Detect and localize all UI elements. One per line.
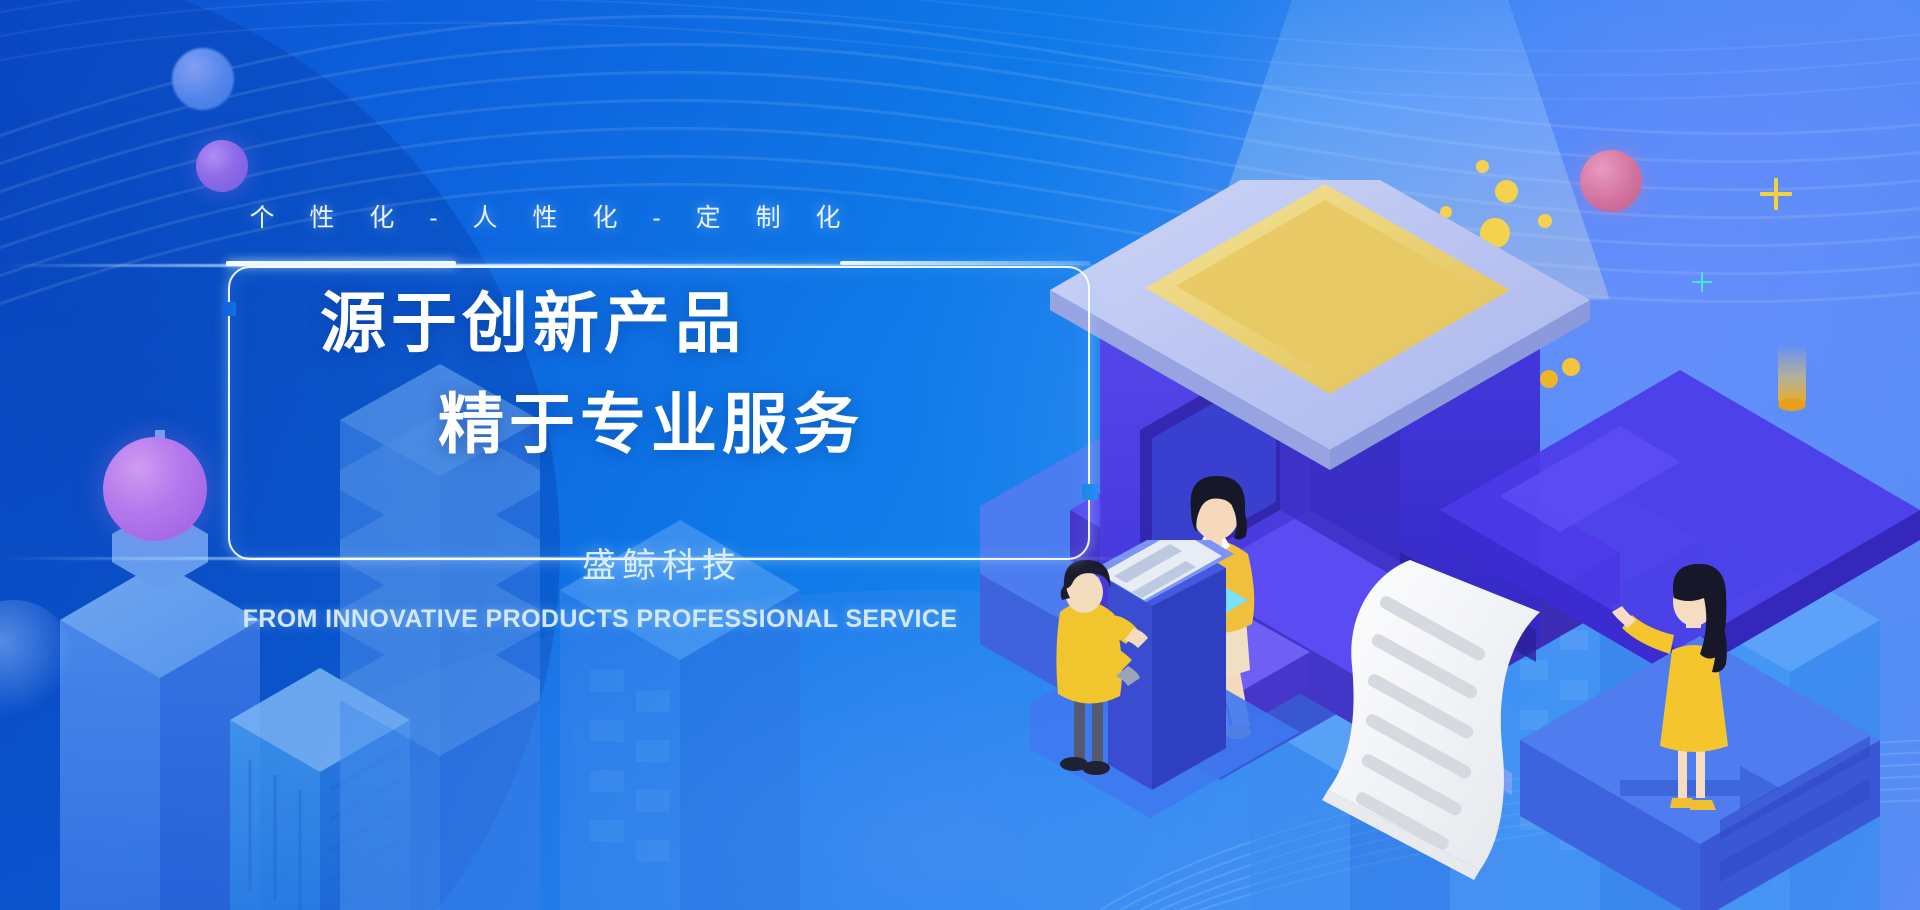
hero-banner: 个 性 化 - 人 性 化 - 定 制 化 源于创新产品 精于专业服务 盛鲸科技… (0, 0, 1920, 910)
gold-dot-1 (1476, 160, 1489, 173)
hero-text-block: 个 性 化 - 人 性 化 - 定 制 化 源于创新产品 精于专业服务 盛鲸科技… (0, 0, 1200, 910)
headline-line-2: 精于专业服务 (228, 391, 1090, 457)
company-name: 盛鲸科技 (228, 538, 1090, 587)
hero-subtitle-english: FROM INNOVATIVE PRODUCTS PROFESSIONAL SE… (120, 605, 1080, 634)
frame-gap-right (1082, 484, 1098, 500)
hero-headline: 源于创新产品 精于专业服务 (228, 290, 1090, 457)
headline-line-1: 源于创新产品 (228, 290, 1090, 356)
light-streak-accent-right (840, 261, 1090, 265)
hero-tagline: 个 性 化 - 人 性 化 - 定 制 化 (0, 198, 1090, 234)
